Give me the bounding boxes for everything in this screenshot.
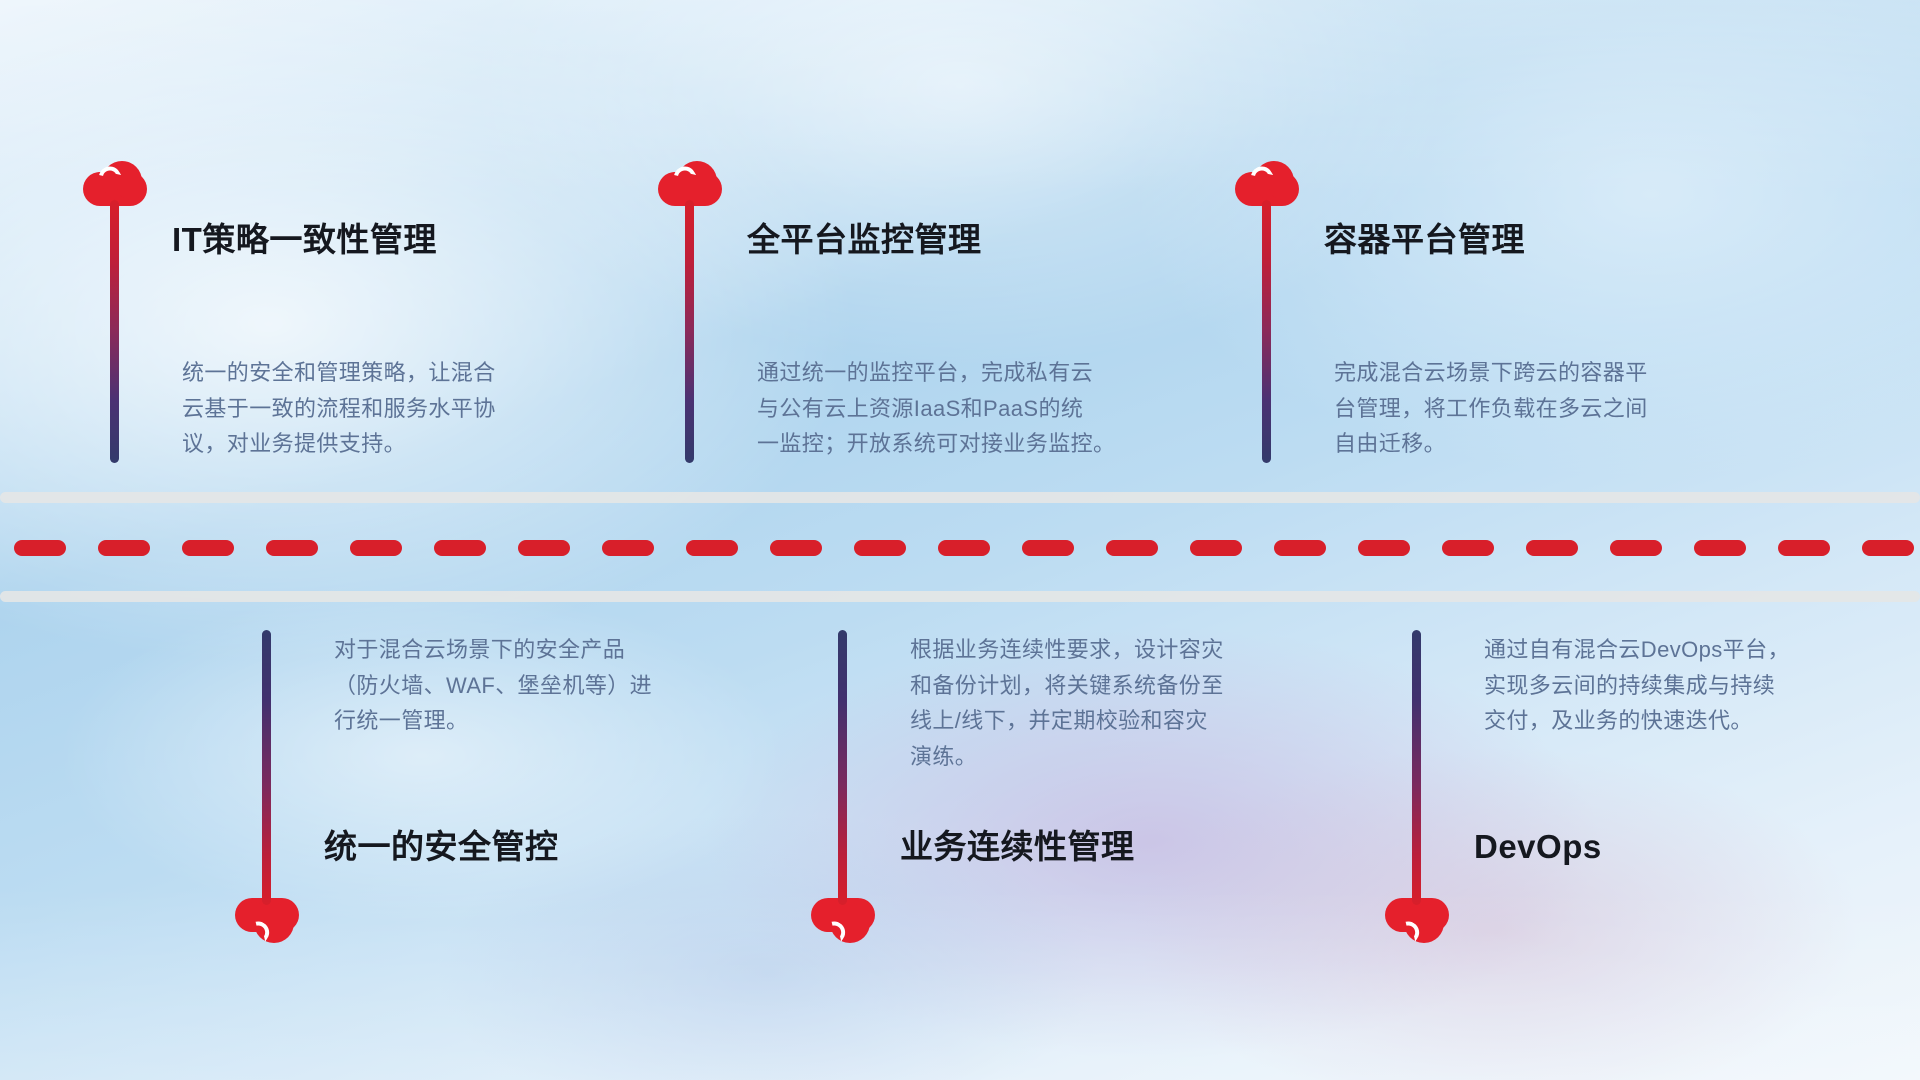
description-line: 完成混合云场景下跨云的容器平 [1334, 355, 1648, 391]
infographic-canvas: IT策略一致性管理统一的安全和管理策略，让混合云基于一致的流程和服务水平协议，对… [0, 0, 1920, 1080]
description-line: 云基于一致的流程和服务水平协 [182, 391, 496, 427]
description-line: 行统一管理。 [334, 703, 652, 739]
item-description: 通过统一的监控平台，完成私有云与公有云上资源IaaS和PaaS的统一监控；开放系… [757, 355, 1115, 462]
item-heading: 统一的安全管控 [324, 827, 559, 867]
description-line: 根据业务连续性要求，设计容灾 [910, 632, 1224, 668]
description-line: 与公有云上资源IaaS和PaaS的统 [757, 391, 1115, 427]
divider-dash-segment [14, 540, 66, 556]
description-line: 通过统一的监控平台，完成私有云 [757, 355, 1115, 391]
divider-dash-segment [1526, 540, 1578, 556]
divider-dash-segment [1190, 540, 1242, 556]
connector-stem [262, 630, 271, 905]
divider-dash-segment [1106, 540, 1158, 556]
description-line: 一监控；开放系统可对接业务监控。 [757, 426, 1115, 462]
divider-dash-segment [854, 540, 906, 556]
divider-dash-segment [266, 540, 318, 556]
cloud-shape [692, 172, 720, 200]
item-description: 统一的安全和管理策略，让混合云基于一致的流程和服务水平协议，对业务提供支持。 [182, 355, 496, 462]
divider-dash-segment [1442, 540, 1494, 556]
connector-stem [1412, 630, 1421, 905]
cloud-shape [845, 904, 873, 932]
item-description: 完成混合云场景下跨云的容器平台管理，将工作负载在多云之间自由迁移。 [1334, 355, 1648, 462]
item-heading: 全平台监控管理 [747, 220, 982, 260]
item-description: 通过自有混合云DevOps平台，实现多云间的持续集成与持续交付，及业务的快速迭代… [1484, 632, 1790, 739]
description-line: 交付，及业务的快速迭代。 [1484, 703, 1790, 739]
description-line: 实现多云间的持续集成与持续 [1484, 668, 1790, 704]
cloud-shape [1419, 904, 1447, 932]
divider-dash-segment [1610, 540, 1662, 556]
cloud-shape [269, 904, 297, 932]
connector-stem [685, 200, 694, 463]
cloud-shape [1269, 172, 1297, 200]
connector-stem [1262, 200, 1271, 463]
connector-stem [110, 200, 119, 463]
divider-dash-segment [350, 540, 402, 556]
divider-dash-segment [770, 540, 822, 556]
divider-dash-segment [182, 540, 234, 556]
divider-bar-bottom [0, 591, 1920, 602]
divider-dashed-line [0, 540, 1920, 556]
item-heading: 业务连续性管理 [900, 827, 1135, 867]
item-heading: DevOps [1474, 827, 1602, 867]
divider-dash-segment [518, 540, 570, 556]
description-line: 对于混合云场景下的安全产品 [334, 632, 652, 668]
item-description: 对于混合云场景下的安全产品（防火墙、WAF、堡垒机等）进行统一管理。 [334, 632, 652, 739]
description-line: 自由迁移。 [1334, 426, 1648, 462]
divider-dash-segment [938, 540, 990, 556]
connector-stem [838, 630, 847, 905]
cloud-shape [117, 172, 145, 200]
divider-dash-segment [686, 540, 738, 556]
item-heading: IT策略一致性管理 [172, 220, 437, 260]
divider-bar-top [0, 492, 1920, 503]
divider-dash-segment [434, 540, 486, 556]
description-line: 线上/线下，并定期校验和容灾 [910, 703, 1224, 739]
description-line: 统一的安全和管理策略，让混合 [182, 355, 496, 391]
divider-dash-segment [1022, 540, 1074, 556]
description-line: （防火墙、WAF、堡垒机等）进 [334, 668, 652, 704]
divider-dash-segment [1358, 540, 1410, 556]
divider-dash-segment [98, 540, 150, 556]
description-line: 台管理，将工作负载在多云之间 [1334, 391, 1648, 427]
divider-dash-segment [1862, 540, 1914, 556]
item-heading: 容器平台管理 [1324, 220, 1525, 260]
divider-dash-segment [1694, 540, 1746, 556]
divider-dash-segment [1778, 540, 1830, 556]
description-line: 演练。 [910, 739, 1224, 775]
description-line: 议，对业务提供支持。 [182, 426, 496, 462]
divider-dash-segment [1274, 540, 1326, 556]
description-line: 和备份计划，将关键系统备份至 [910, 668, 1224, 704]
description-line: 通过自有混合云DevOps平台， [1484, 632, 1790, 668]
item-description: 根据业务连续性要求，设计容灾和备份计划，将关键系统备份至线上/线下，并定期校验和… [910, 632, 1224, 775]
divider-dash-segment [602, 540, 654, 556]
